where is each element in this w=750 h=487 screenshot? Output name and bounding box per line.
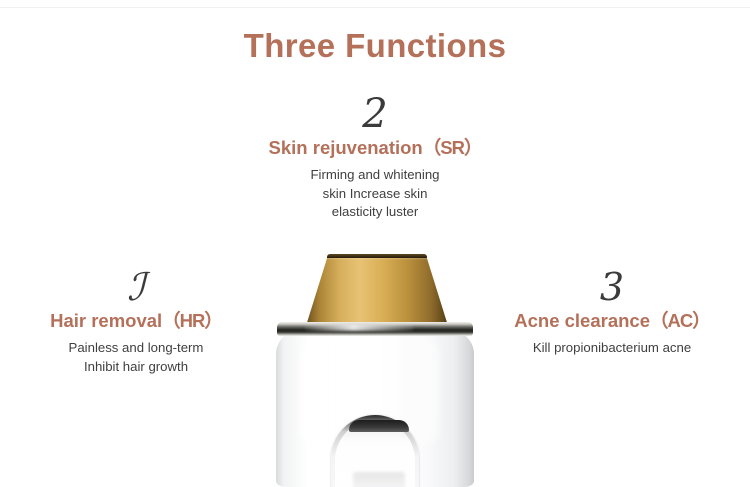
feature-desc-line: Inhibit hair growth (16, 358, 256, 377)
page-title: Three Functions (0, 26, 750, 66)
feature-numeral-3: 3 (492, 268, 732, 306)
feature-skin-rejuvenation: 2 Skin rejuvenation（SR） Firming and whit… (246, 94, 504, 222)
feature-numeral-1: ℐ (16, 268, 256, 306)
feature-desc-line: Kill propionibacterium acne (492, 339, 732, 358)
feature-description-hair-removal: Painless and long-term Inhibit hair grow… (16, 339, 256, 376)
product-display-content (353, 472, 405, 487)
feature-numeral-2: 2 (246, 94, 504, 134)
product-display-window (331, 415, 419, 487)
feature-hair-removal: ℐ Hair removal（HR） Painless and long-ter… (16, 268, 256, 376)
feature-heading-acne-clearance: Acne clearance（AC） (492, 309, 732, 333)
feature-heading-code-sr: （SR） (423, 137, 482, 158)
feature-acne-clearance: 3 Acne clearance（AC） Kill propionibacter… (492, 268, 732, 358)
product-body-highlight (408, 336, 438, 446)
top-divider (0, 7, 750, 8)
feature-heading-code-ac: （AC） (650, 310, 710, 331)
promo-banner: Three Functions 2 Skin rejuvenation（SR） … (0, 0, 750, 487)
feature-description-acne-clearance: Kill propionibacterium acne (492, 339, 732, 358)
feature-heading-code-hr: （HR） (162, 310, 222, 331)
product-display-window-inner (335, 420, 415, 487)
product-image (258, 250, 492, 487)
feature-desc-line: skin Increase skin (246, 185, 504, 204)
feature-description-skin-rejuvenation: Firming and whitening skin Increase skin… (246, 166, 504, 222)
feature-desc-line: Painless and long-term (16, 339, 256, 358)
product-display-window-cap (349, 420, 409, 432)
feature-heading-label-sr: Skin rejuvenation (269, 137, 423, 158)
feature-heading-hair-removal: Hair removal（HR） (16, 309, 256, 333)
product-gold-cap (305, 255, 449, 329)
product-cap-top-edge (327, 254, 427, 258)
feature-heading-label-hr: Hair removal (50, 310, 162, 331)
feature-heading-skin-rejuvenation: Skin rejuvenation（SR） (246, 136, 504, 160)
product-chrome-highlight (304, 324, 414, 331)
feature-heading-label-ac: Acne clearance (514, 310, 650, 331)
feature-desc-line: elasticity luster (246, 203, 504, 222)
feature-desc-line: Firming and whitening (246, 166, 504, 185)
